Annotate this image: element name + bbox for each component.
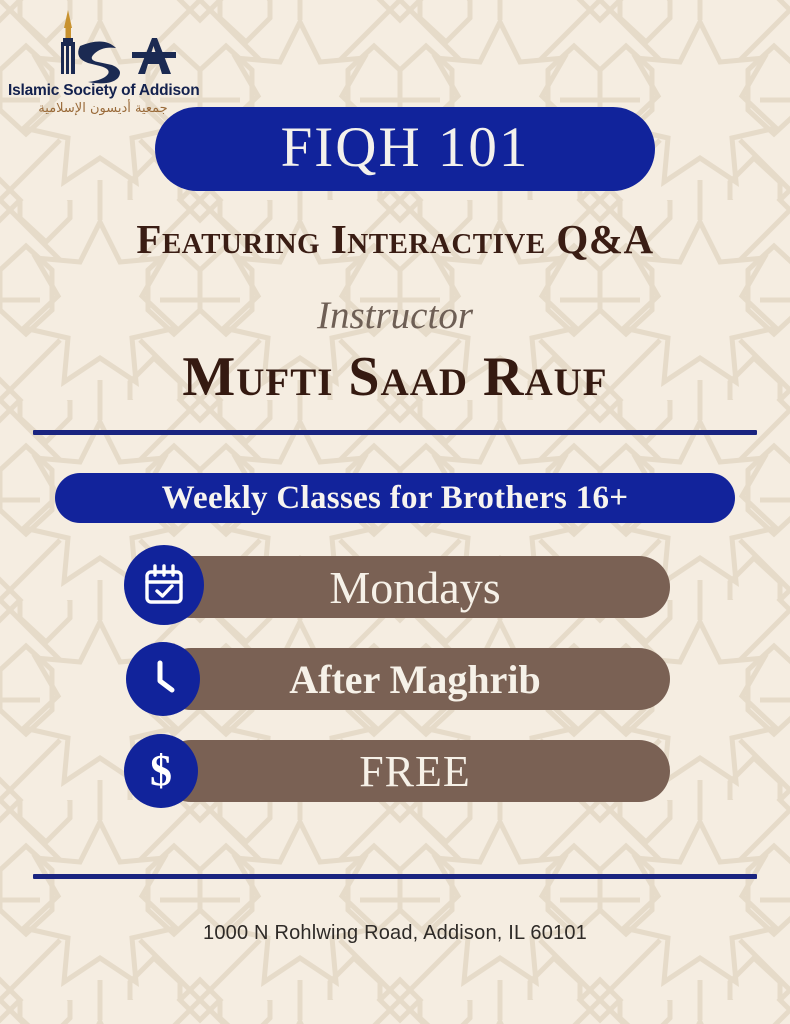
weekly-classes-text: Weekly Classes for Brothers 16+ xyxy=(162,480,629,517)
featuring-subtitle: Featuring Interactive Q&A xyxy=(0,215,790,263)
logo-arabic-name: جمعية أديسون الإسلامية xyxy=(8,101,198,116)
info-row-label: Mondays xyxy=(329,561,500,614)
organization-logo: Islamic Society of Addison جمعية أديسون … xyxy=(8,8,198,116)
info-row: After Maghrib xyxy=(0,640,790,732)
page-title: FIQH 101 xyxy=(281,119,530,180)
svg-text:$: $ xyxy=(150,747,172,795)
logo-organization-name: Islamic Society of Addison xyxy=(8,82,198,100)
isa-minaret-icon xyxy=(28,8,178,86)
info-row: Mondays xyxy=(0,548,790,640)
instructor-label: Instructor xyxy=(0,293,790,338)
price-pill: FREE xyxy=(160,740,670,802)
venue-address: 1000 N Rohlwing Road, Addison, IL 60101 xyxy=(0,922,790,945)
info-row-label: After Maghrib xyxy=(289,656,540,703)
flyer-poster: Islamic Society of Addison جمعية أديسون … xyxy=(0,0,790,1024)
schedule-day-pill: Mondays xyxy=(160,556,670,618)
info-row: FREE $ xyxy=(0,732,790,824)
title-banner: FIQH 101 xyxy=(155,107,655,191)
instructor-name: Mufti Saad Rauf xyxy=(0,345,790,409)
schedule-time-pill: After Maghrib xyxy=(160,648,670,710)
calendar-check-icon xyxy=(124,545,204,625)
dollar-sign-icon: $ xyxy=(124,734,198,808)
clock-icon xyxy=(126,642,200,716)
weekly-classes-banner: Weekly Classes for Brothers 16+ xyxy=(55,473,735,523)
info-rows: Mondays xyxy=(0,548,790,824)
divider-bottom xyxy=(33,874,757,879)
info-row-label: FREE xyxy=(359,746,471,797)
divider-top xyxy=(33,430,757,435)
